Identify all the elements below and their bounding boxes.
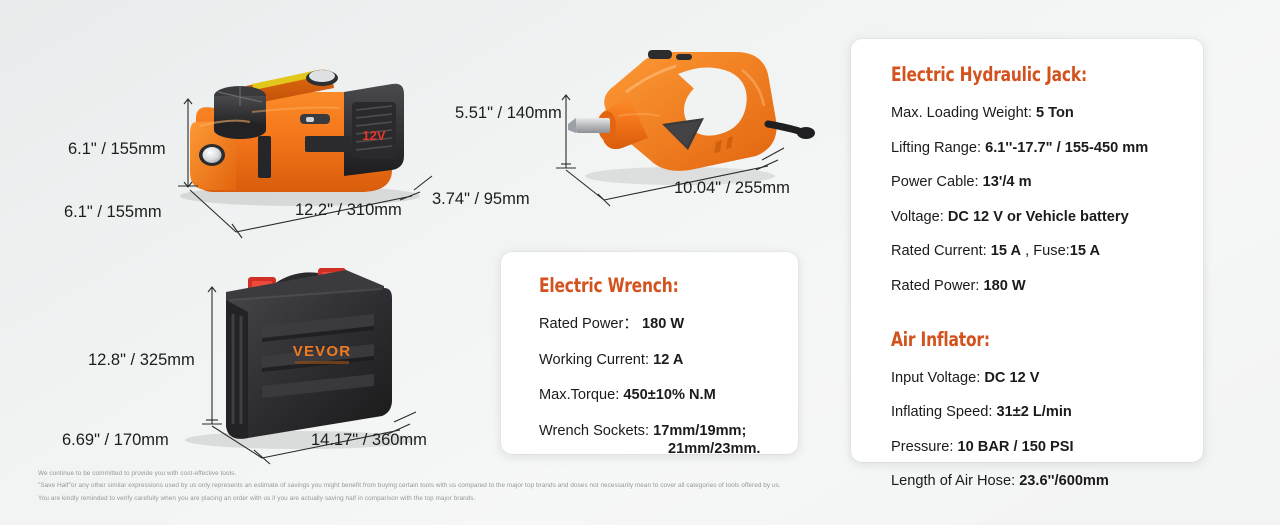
spec-label: Lifting Range: [891,140,985,156]
card-title-hydraulic-jack: Electric Hydraulic Jack: [891,63,1166,86]
spec-value: 450±10% N.M [623,387,715,403]
spec-label: Rated Power: [891,278,983,294]
spec-wrench-sockets-line2: 21mm/23mm. [539,442,798,457]
wrench-spec-list: Rated Power： 180 W Working Current: 12 A… [539,317,798,478]
disclaimer-line-3: You are kindly reminded to verify carefu… [38,493,968,505]
spec-label: Working Current: [539,352,653,368]
spec-label: Rated Power： [539,316,642,332]
spec-label: Input Voltage: [891,370,984,386]
spec-label: Pressure: [891,439,958,455]
spec-wrench-rated-power: Rated Power： 180 W [539,317,798,332]
jack-depth-label: 6.1" / 155mm [64,203,162,222]
spec-value: 15 A [991,243,1021,259]
case-width-label: 14.17" / 360mm [311,431,427,450]
spec-label: Inflating Speed: [891,404,996,420]
case-depth-label: 6.69" / 170mm [62,431,169,450]
spec-value: 10 BAR / 150 PSI [958,439,1074,455]
spec-rated-power: Rated Power: 180 W [891,279,1203,294]
jack-12v-badge: 12V [362,128,385,143]
specs-card-jack-inflator: Electric Hydraulic Jack: Max. Loading We… [851,39,1203,462]
disclaimer-block: We continue to be committed to provide y… [38,468,968,505]
jack-illustration: 12V [180,70,420,206]
spec-value-fuse: 15 A [1070,243,1100,259]
specs-card-electric-wrench: Electric Wrench: Rated Power： 180 W Work… [501,252,798,454]
spec-value: 12 A [653,352,683,368]
spec-value: 180 W [983,278,1025,294]
spec-wrench-working-current: Working Current: 12 A [539,353,798,368]
spec-label: Max.Torque: [539,387,623,403]
spec-label: Voltage: [891,209,948,225]
spec-voltage: Voltage: DC 12 V or Vehicle battery [891,210,1203,225]
disclaimer-line-1: We continue to be committed to provide y… [38,468,968,480]
spec-label: Wrench Sockets: [539,423,653,439]
case-height-label: 12.8" / 325mm [88,351,195,370]
spec-value: 17mm/19mm; [653,423,746,439]
spec-value: DC 12 V [984,370,1039,386]
jack-spec-list: Max. Loading Weight: 5 Ton Lifting Range… [891,106,1203,314]
spec-label: Max. Loading Weight: [891,105,1036,121]
wrench-illustration [568,50,815,185]
case-vevor-logo: VEVOR [293,343,352,360]
jack-length-label: 12.2" / 310mm [295,201,402,220]
spec-value: 180 W [642,316,684,332]
jack-height-label: 6.1" / 155mm [68,140,166,159]
spec-input-voltage: Input Voltage: DC 12 V [891,371,1203,386]
spec-inflating-speed: Inflating Speed: 31±2 L/min [891,405,1203,420]
card-title-air-inflator: Air Inflator: [891,328,1166,351]
spec-wrench-sockets: Wrench Sockets: 17mm/19mm; [539,424,798,439]
spec-rated-current-fuse: Rated Current: 15 A , Fuse:15 A [891,244,1203,259]
wrench-length-label: 10.04" / 255mm [674,179,790,198]
spec-power-cable: Power Cable: 13'/4 m [891,175,1203,190]
spec-max-loading-weight: Max. Loading Weight: 5 Ton [891,106,1203,121]
case-illustration: VEVOR [185,268,415,449]
card-title-electric-wrench: Electric Wrench: [539,274,767,297]
spec-label: Power Cable: [891,174,983,190]
spec-pressure: Pressure: 10 BAR / 150 PSI [891,440,1203,455]
spec-value: DC 12 V or Vehicle battery [948,209,1129,225]
spec-wrench-max-torque: Max.Torque: 450±10% N.M [539,388,798,403]
spec-value: 23.6''/600mm [1019,473,1109,489]
spec-lifting-range: Lifting Range: 6.1''-17.7" / 155-450 mm [891,141,1203,156]
spec-value: 13'/4 m [983,174,1032,190]
spec-value: 6.1''-17.7" / 155-450 mm [985,140,1148,156]
disclaimer-line-2: "Save Half"or any other similar expressi… [38,480,968,492]
spec-label-fuse: , Fuse: [1021,243,1070,259]
wrench-depth-label: 3.74" / 95mm [432,190,530,209]
infographic-stage: 12V [0,0,1280,525]
spec-label: Rated Current: [891,243,991,259]
wrench-height-label: 5.51" / 140mm [455,104,562,123]
spec-value: 31±2 L/min [996,404,1071,420]
spec-value: 5 Ton [1036,105,1074,121]
